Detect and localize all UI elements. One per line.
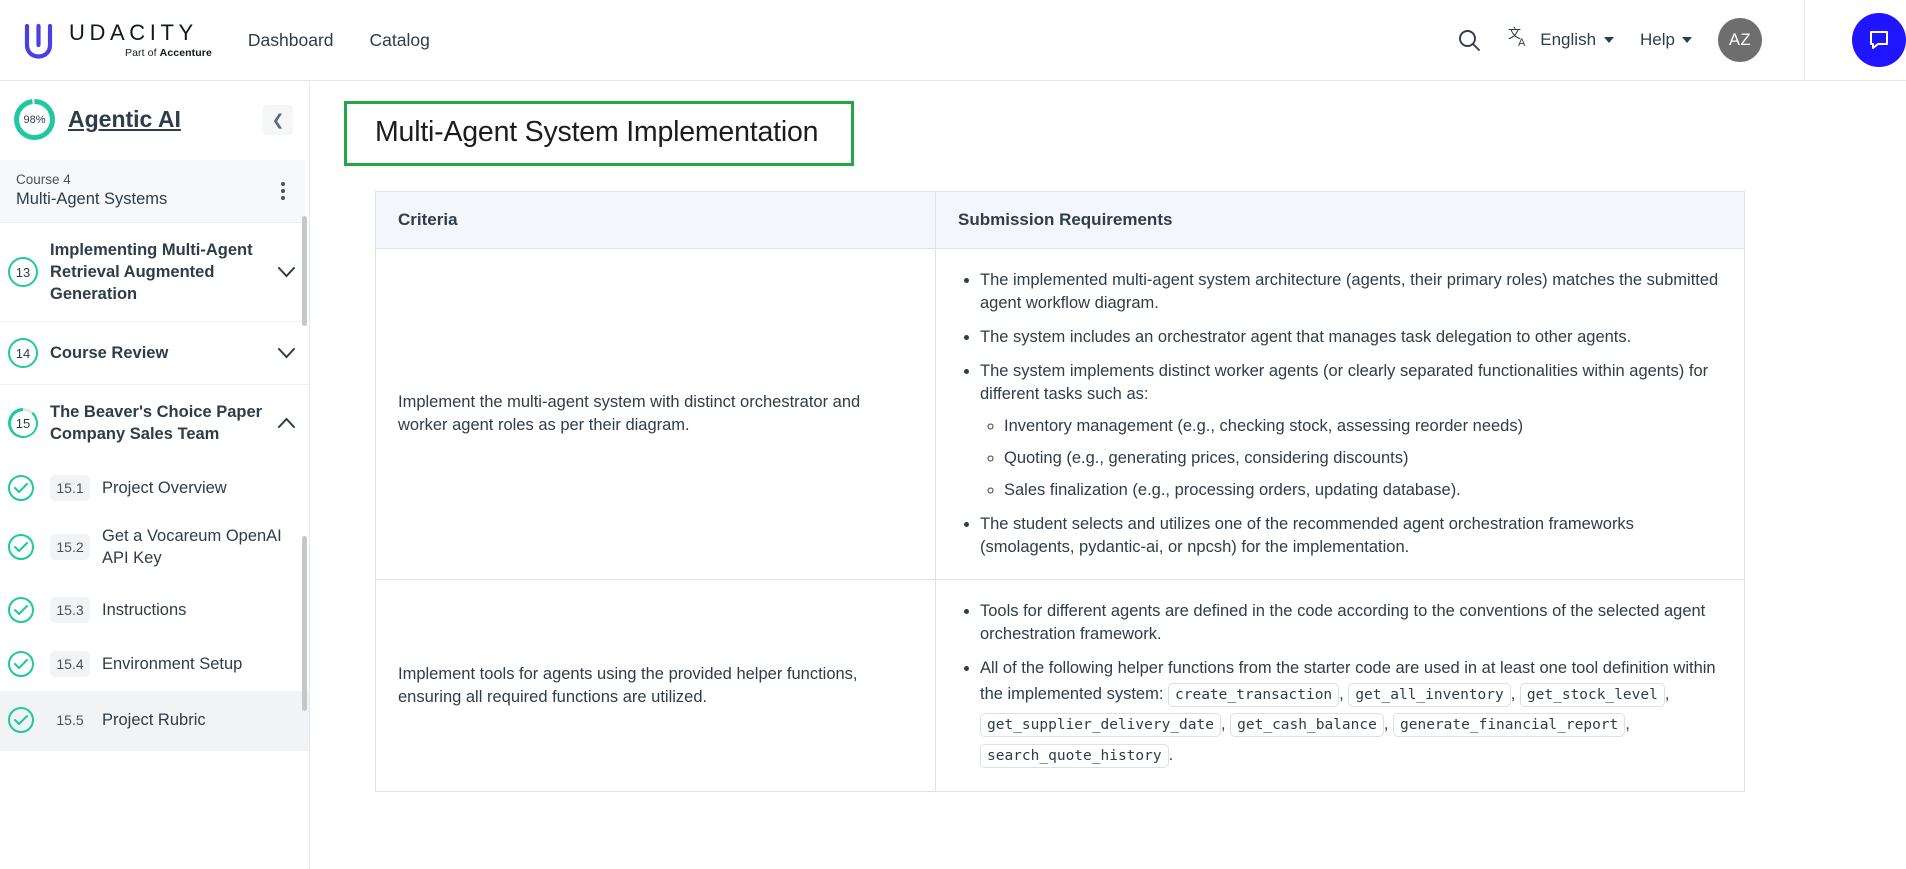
progress-ring: 98% xyxy=(14,99,55,140)
check-circle-icon xyxy=(8,597,34,623)
check-circle-icon xyxy=(8,475,34,501)
program-header: 98% Agentic AI ❮ xyxy=(0,81,309,156)
helper-function-chip: create_transaction xyxy=(1168,683,1339,707)
page-title-highlight: Multi-Agent System Implementation xyxy=(344,101,854,166)
brand-tagline: Part of Accenture xyxy=(125,47,212,59)
requirement-sublist: Inventory management (e.g., checking sto… xyxy=(980,415,1722,502)
helper-function-chip: search_quote_history xyxy=(980,744,1169,768)
requirement-item: All of the following helper functions fr… xyxy=(980,657,1722,771)
lesson-number-badge: 15 xyxy=(8,408,38,438)
chevron-down-icon[interactable] xyxy=(278,348,295,359)
lesson-number-badge: 13 xyxy=(8,257,38,287)
criteria-cell: Implement tools for agents using the pro… xyxy=(376,580,936,792)
kebab-menu-icon[interactable] xyxy=(277,178,289,204)
language-label: English xyxy=(1540,30,1596,50)
nav-item-catalog[interactable]: Catalog xyxy=(368,24,432,57)
lesson-title: Course Review xyxy=(50,342,168,364)
primary-nav: Dashboard Catalog xyxy=(246,24,432,57)
course-sidebar: 98% Agentic AI ❮ Course 4 Multi-Agent Sy… xyxy=(0,81,310,869)
requirements-cell: The implemented multi-agent system archi… xyxy=(936,249,1745,580)
chevron-down-icon[interactable] xyxy=(278,267,295,278)
help-label: Help xyxy=(1640,30,1675,50)
sublesson-item-15-3[interactable]: 15.3 Instructions xyxy=(0,583,309,637)
chevron-down-icon xyxy=(1682,37,1692,43)
sublesson-label: Get a Vocareum OpenAI API Key xyxy=(102,525,292,569)
check-circle-icon xyxy=(8,707,34,733)
requirements-list: Tools for different agents are defined i… xyxy=(958,600,1722,771)
sublesson-label: Project Overview xyxy=(102,477,227,499)
requirement-subitem: Quoting (e.g., generating prices, consid… xyxy=(1004,447,1722,470)
translate-icon: 文 A xyxy=(1508,26,1532,55)
requirements-list: The implemented multi-agent system archi… xyxy=(958,269,1722,559)
top-bar-divider xyxy=(1804,0,1805,81)
top-bar-actions: 文 A English Help AZ xyxy=(1457,0,1906,81)
sublesson-item-15-1[interactable]: 15.1 Project Overview xyxy=(0,461,309,511)
avatar[interactable]: AZ xyxy=(1718,18,1762,62)
lesson-item-13[interactable]: 13 Implementing Multi-Agent Retrieval Au… xyxy=(0,222,309,321)
course-number-label: Course 4 xyxy=(16,172,167,187)
sublesson-label: Instructions xyxy=(102,599,186,621)
progress-percent-label: 98% xyxy=(23,114,45,126)
top-navigation-bar: UDACITY Part of Accenture Dashboard Cata… xyxy=(0,0,1906,81)
current-course-card[interactable]: Course 4 Multi-Agent Systems xyxy=(0,160,305,222)
help-menu[interactable]: Help xyxy=(1640,30,1692,50)
helper-function-chip: get_supplier_delivery_date xyxy=(980,713,1221,737)
program-title[interactable]: Agentic AI xyxy=(68,106,181,133)
sublesson-label: Project Rubric xyxy=(102,709,206,731)
helper-function-chip: get_cash_balance xyxy=(1230,713,1384,737)
sublesson-number-badge: 15.1 xyxy=(50,475,90,501)
sublesson-number-badge: 15.3 xyxy=(50,597,90,623)
sublesson-number-badge: 15.5 xyxy=(50,707,90,733)
lesson-item-15[interactable]: 15 The Beaver's Choice Paper Company Sal… xyxy=(0,384,309,461)
nav-item-dashboard[interactable]: Dashboard xyxy=(246,24,336,57)
sublesson-label: Environment Setup xyxy=(102,653,242,675)
lesson-title: The Beaver's Choice Paper Company Sales … xyxy=(50,401,266,445)
table-row: Implement the multi-agent system with di… xyxy=(376,249,1745,580)
requirement-item: The system implements distinct worker ag… xyxy=(980,360,1722,502)
sublesson-number-badge: 15.2 xyxy=(50,534,90,560)
sublesson-item-15-2[interactable]: 15.2 Get a Vocareum OpenAI API Key xyxy=(0,511,309,583)
search-icon[interactable] xyxy=(1457,28,1482,53)
chevron-up-icon[interactable] xyxy=(278,418,295,429)
course-name-label: Multi-Agent Systems xyxy=(16,190,167,209)
check-circle-icon xyxy=(8,651,34,677)
language-selector[interactable]: 文 A English xyxy=(1508,26,1614,55)
chevron-down-icon xyxy=(1604,37,1614,43)
helper-function-chip: generate_financial_report xyxy=(1393,713,1625,737)
requirements-cell: Tools for different agents are defined i… xyxy=(936,580,1745,792)
lesson-number-badge: 14 xyxy=(8,338,38,368)
helper-function-chip: get_stock_level xyxy=(1520,683,1665,707)
chat-bubble-icon[interactable] xyxy=(1852,13,1906,67)
column-header-submission-requirements: Submission Requirements xyxy=(936,192,1745,249)
brand-wordmark: UDACITY xyxy=(69,21,212,45)
check-circle-icon xyxy=(8,534,34,560)
sidebar-scrollbar[interactable] xyxy=(302,216,307,326)
requirement-subitem: Inventory management (e.g., checking sto… xyxy=(1004,415,1722,438)
requirement-subitem: Sales finalization (e.g., processing ord… xyxy=(1004,479,1722,502)
chevron-left-icon[interactable]: ❮ xyxy=(263,105,293,135)
sidebar-scrollbar-thumb[interactable] xyxy=(302,536,307,711)
udacity-logo[interactable]: UDACITY Part of Accenture xyxy=(24,21,212,59)
table-row: Implement tools for agents using the pro… xyxy=(376,580,1745,792)
rubric-table: Criteria Submission Requirements Impleme… xyxy=(375,191,1745,792)
page-title: Multi-Agent System Implementation xyxy=(375,116,851,149)
table-header-row: Criteria Submission Requirements xyxy=(376,192,1745,249)
requirement-item: The implemented multi-agent system archi… xyxy=(980,269,1722,315)
sublesson-item-15-4[interactable]: 15.4 Environment Setup xyxy=(0,637,309,691)
criteria-cell: Implement the multi-agent system with di… xyxy=(376,249,936,580)
column-header-criteria: Criteria xyxy=(376,192,936,249)
lesson-item-14[interactable]: 14 Course Review xyxy=(0,321,309,384)
requirement-item: The student selects and utilizes one of … xyxy=(980,513,1722,559)
helper-function-chip: get_all_inventory xyxy=(1348,683,1510,707)
sublesson-number-badge: 15.4 xyxy=(50,651,90,677)
sublesson-item-15-5[interactable]: 15.5 Project Rubric xyxy=(0,691,309,751)
svg-text:A: A xyxy=(1518,37,1526,49)
lesson-title: Implementing Multi-Agent Retrieval Augme… xyxy=(50,239,266,305)
udacity-mark-icon xyxy=(24,23,58,59)
main-content: Multi-Agent System Implementation Criter… xyxy=(311,81,1906,869)
requirement-item: Tools for different agents are defined i… xyxy=(980,600,1722,646)
requirement-text: The system implements distinct worker ag… xyxy=(980,362,1708,403)
lesson-list: 13 Implementing Multi-Agent Retrieval Au… xyxy=(0,222,309,751)
requirement-item: The system includes an orchestrator agen… xyxy=(980,326,1722,349)
